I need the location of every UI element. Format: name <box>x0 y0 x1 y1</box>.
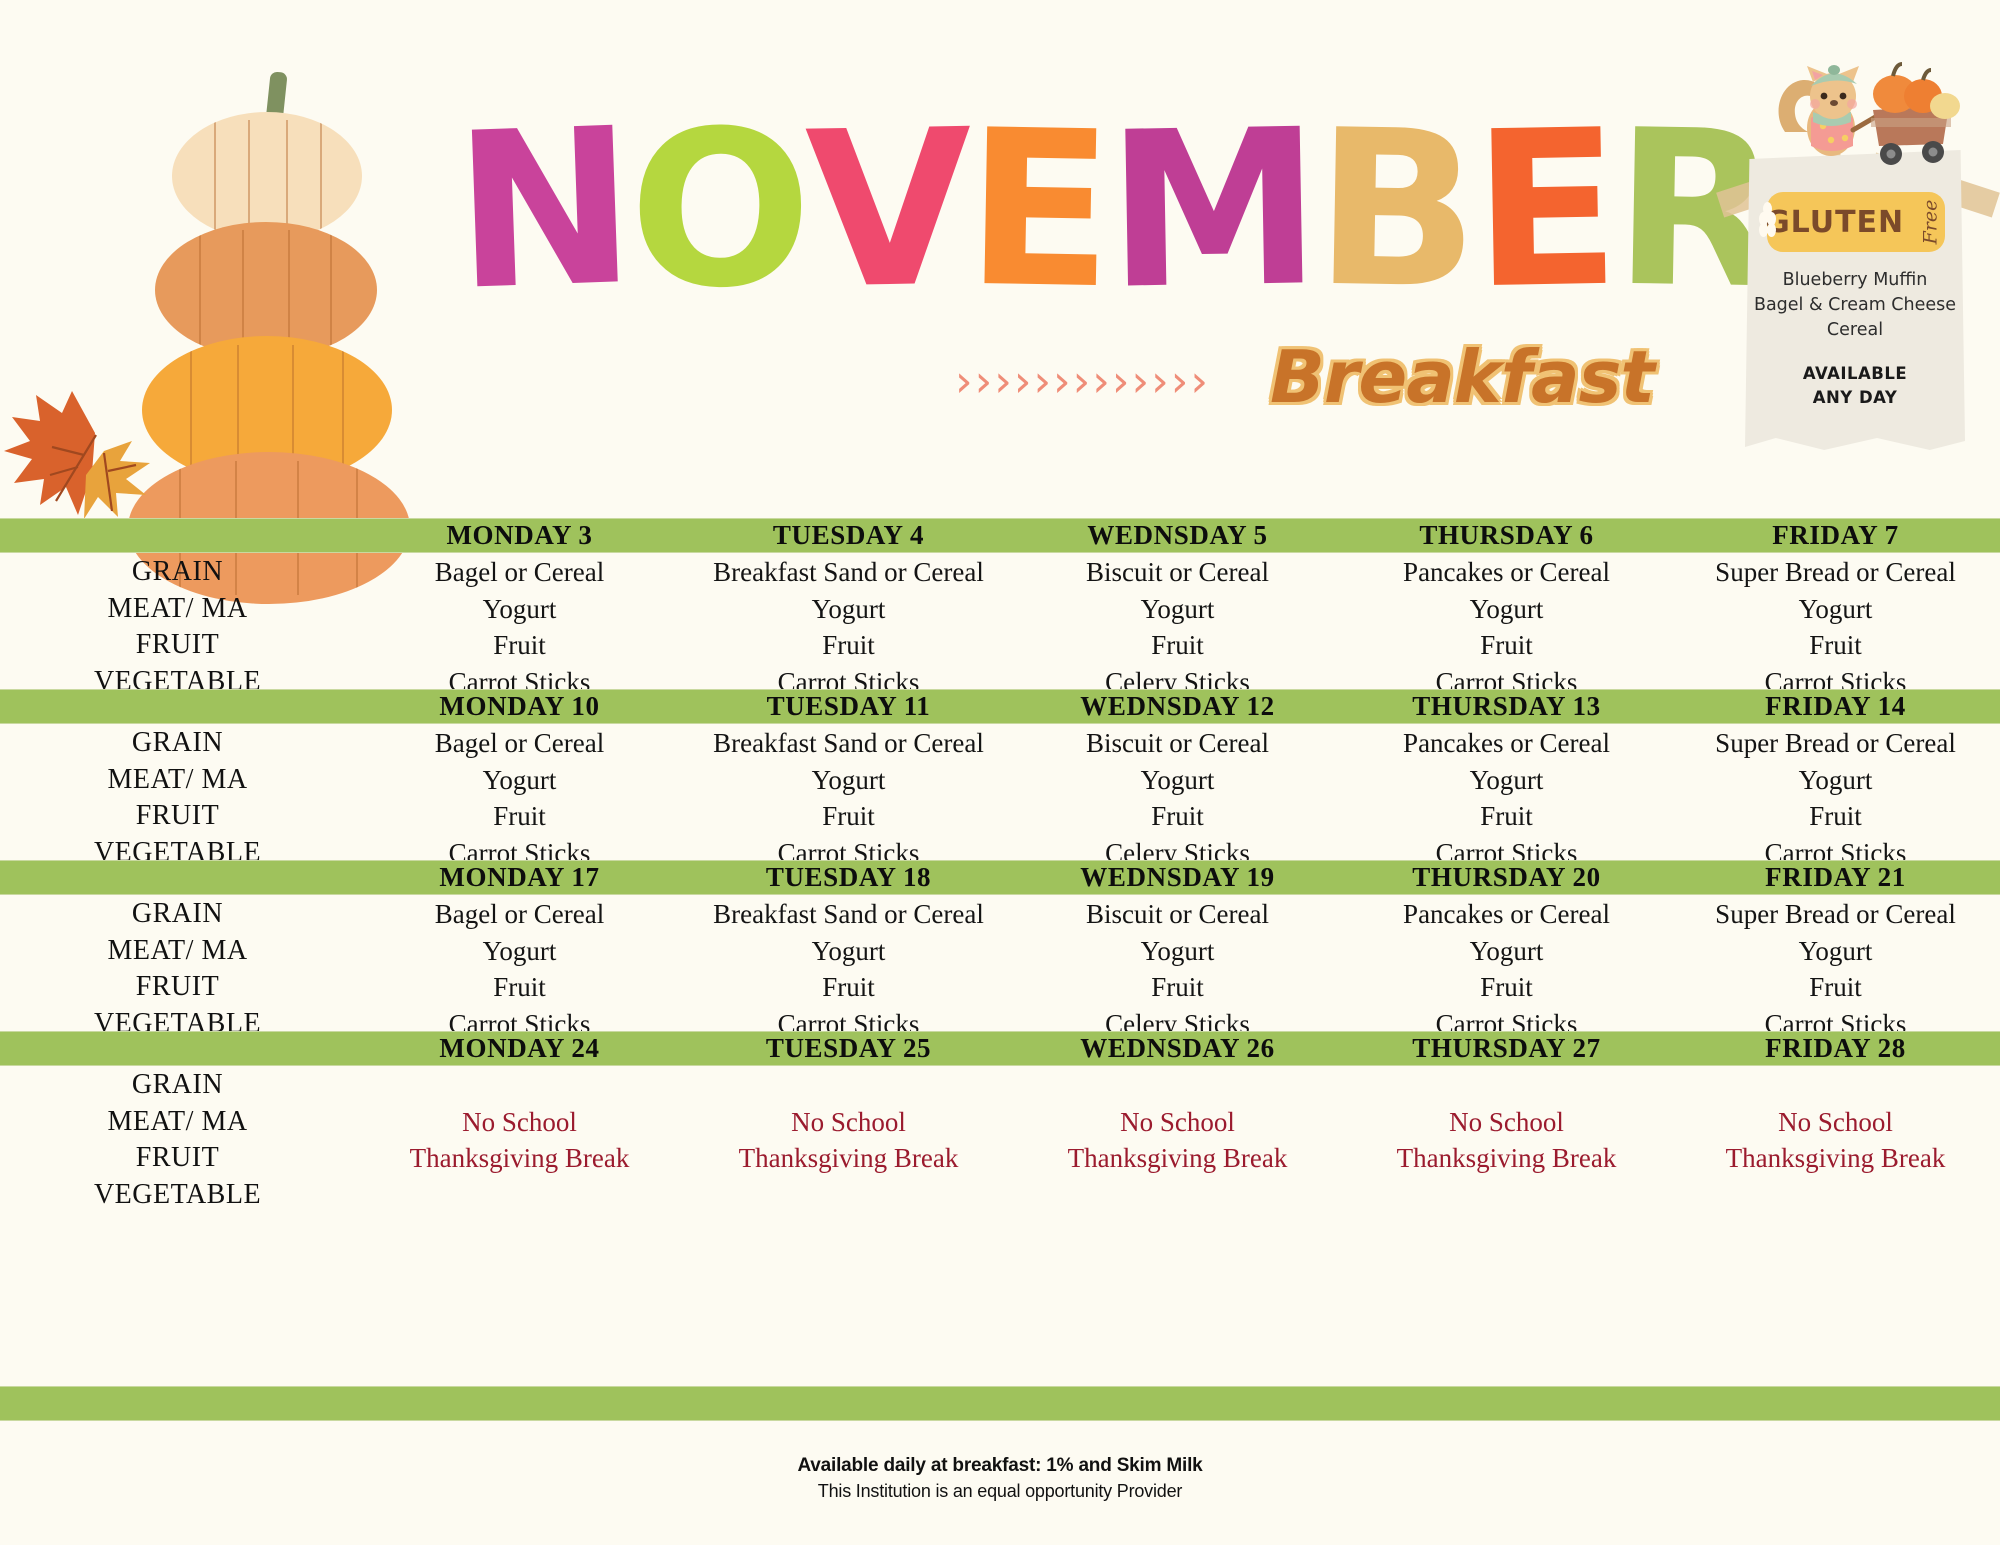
menu-cell: Super Bread or Cereal <box>1671 725 2000 762</box>
chevron-icon: › <box>1092 360 1110 404</box>
menu-cell <box>355 1177 684 1214</box>
menu-cell: Fruit <box>1013 798 1342 835</box>
day-column-4: Pancakes or CerealYogurtFruitCarrot Stic… <box>1342 725 1671 871</box>
title-letter: M <box>1105 108 1316 312</box>
day-header-label: WEDNSDAY 26 <box>1013 1031 1342 1066</box>
week-menu-columns: Bagel or CerealYogurtFruitCarrot SticksB… <box>355 554 2000 700</box>
row-label-column: GRAINMEAT/ MAFRUITVEGETABLE <box>0 554 355 700</box>
day-header-4[interactable]: THURSDAY 13 <box>1342 689 1671 724</box>
row-label-grain: GRAIN <box>0 554 355 591</box>
day-header-label: FRIDAY 14 <box>1671 689 2000 724</box>
bottom-divider-bar <box>0 1386 2000 1421</box>
gluten-free-item: Bagel & Cream Cheese <box>1753 293 1957 318</box>
menu-cell: Yogurt <box>684 591 1013 628</box>
title-letter: B <box>1313 109 1474 312</box>
menu-cell: Bagel or Cereal <box>355 725 684 762</box>
chevron-icon: › <box>1131 360 1149 404</box>
menu-cell: Bagel or Cereal <box>355 896 684 933</box>
day-header-label: WEDNSDAY 19 <box>1013 860 1342 895</box>
row-label-meat-ma: MEAT/ MA <box>0 762 355 799</box>
menu-cell: Fruit <box>1342 969 1671 1006</box>
menu-cell: Biscuit or Cereal <box>1013 896 1342 933</box>
day-column-3: No SchoolThanksgiving Break <box>1013 1067 1342 1213</box>
chevron-icon: › <box>1033 360 1051 404</box>
menu-cell: Fruit <box>355 969 684 1006</box>
day-header-label: THURSDAY 27 <box>1342 1031 1671 1066</box>
menu-cell: Thanksgiving Break <box>1671 1140 2000 1177</box>
day-column-5: Super Bread or CerealYogurtFruitCarrot S… <box>1671 554 2000 700</box>
chevron-icon: › <box>1112 360 1130 404</box>
day-header-1[interactable]: MONDAY 17 <box>355 860 684 895</box>
day-header-2[interactable]: TUESDAY 11 <box>684 689 1013 724</box>
menu-cell: Fruit <box>1013 627 1342 664</box>
menu-cell: Pancakes or Cereal <box>1342 554 1671 591</box>
menu-cell: Yogurt <box>355 762 684 799</box>
menu-cell <box>684 1177 1013 1214</box>
menu-cell: No School <box>355 1104 684 1141</box>
menu-cell: Biscuit or Cereal <box>1013 725 1342 762</box>
day-header-5[interactable]: FRIDAY 21 <box>1671 860 2000 895</box>
day-header-5[interactable]: FRIDAY 28 <box>1671 1031 2000 1066</box>
menu-cell <box>1671 1177 2000 1214</box>
day-header-3[interactable]: WEDNSDAY 12 <box>1013 689 1342 724</box>
menu-cell <box>1671 1067 2000 1104</box>
day-header-label: TUESDAY 25 <box>684 1031 1013 1066</box>
title-letter: O <box>627 109 807 312</box>
menu-cell: No School <box>684 1104 1013 1141</box>
gluten-free-item: Cereal <box>1753 318 1957 343</box>
menu-cell: Super Bread or Cereal <box>1671 554 2000 591</box>
day-header-label: FRIDAY 21 <box>1671 860 2000 895</box>
footer-eo-statement: This Institution is an equal opportunity… <box>0 1481 2000 1502</box>
row-label-grain: GRAIN <box>0 725 355 762</box>
footer-milk-note: Available daily at breakfast: 1% and Ski… <box>0 1455 2000 1477</box>
day-column-2: Breakfast Sand or CerealYogurtFruitCarro… <box>684 554 1013 700</box>
menu-cell: Thanksgiving Break <box>355 1140 684 1177</box>
day-column-1: Bagel or CerealYogurtFruitCarrot Sticks <box>355 725 684 871</box>
title-letter: N <box>452 107 633 313</box>
availability-line-2: ANY DAY <box>1753 386 1957 410</box>
menu-cell: Yogurt <box>1342 591 1671 628</box>
day-column-3: Biscuit or CerealYogurtFruitCelery Stick… <box>1013 896 1342 1042</box>
menu-cell: Yogurt <box>1342 762 1671 799</box>
day-header-5[interactable]: FRIDAY 14 <box>1671 689 2000 724</box>
day-column-2: Breakfast Sand or CerealYogurtFruitCarro… <box>684 896 1013 1042</box>
menu-cell <box>1342 1177 1671 1214</box>
menu-cell: Breakfast Sand or Cereal <box>684 725 1013 762</box>
chevron-icon: › <box>1190 360 1208 404</box>
day-column-1: No SchoolThanksgiving Break <box>355 1067 684 1213</box>
menu-cell: Fruit <box>1671 798 2000 835</box>
row-label-column: GRAINMEAT/ MAFRUITVEGETABLE <box>0 1067 355 1213</box>
row-label-fruit: FRUIT <box>0 798 355 835</box>
title-letter: V <box>804 109 968 312</box>
day-header-label: WEDNSDAY 12 <box>1013 689 1342 724</box>
gluten-free-badge-main: GLUTEN <box>1765 205 1904 240</box>
row-label-meat-ma: MEAT/ MA <box>0 1104 355 1141</box>
day-column-4: Pancakes or CerealYogurtFruitCarrot Stic… <box>1342 554 1671 700</box>
day-header-2[interactable]: TUESDAY 25 <box>684 1031 1013 1066</box>
autumn-leaves-icon <box>0 355 200 515</box>
menu-cell: Pancakes or Cereal <box>1342 725 1671 762</box>
day-header-5[interactable]: FRIDAY 7 <box>1671 518 2000 553</box>
day-header-2[interactable]: TUESDAY 4 <box>684 518 1013 553</box>
week-day-headers: MONDAY 10TUESDAY 11WEDNSDAY 12THURSDAY 1… <box>0 689 2000 724</box>
chevron-icon: › <box>1171 360 1189 404</box>
menu-cell: Fruit <box>355 798 684 835</box>
row-label-fruit: FRUIT <box>0 627 355 664</box>
menu-cell: Fruit <box>1671 969 2000 1006</box>
availability-line-1: AVAILABLE <box>1753 362 1957 386</box>
menu-cell: Yogurt <box>1671 591 2000 628</box>
chevron-icon: › <box>1053 360 1071 404</box>
day-header-label: TUESDAY 11 <box>684 689 1013 724</box>
menu-cell: Yogurt <box>1013 591 1342 628</box>
gluten-free-item-list: Blueberry Muffin Bagel & Cream Cheese Ce… <box>1753 268 1957 343</box>
row-label-vegetable: VEGETABLE <box>0 1177 355 1214</box>
day-header-label: THURSDAY 20 <box>1342 860 1671 895</box>
week-day-headers: MONDAY 17TUESDAY 18WEDNSDAY 19THURSDAY 2… <box>0 860 2000 895</box>
page-footer: Available daily at breakfast: 1% and Ski… <box>0 1455 2000 1502</box>
day-column-5: No SchoolThanksgiving Break <box>1671 1067 2000 1213</box>
week-day-headers: MONDAY 24TUESDAY 25WEDNSDAY 26THURSDAY 2… <box>0 1031 2000 1066</box>
gluten-free-badge-sub: Free <box>1920 200 1942 245</box>
day-header-label: TUESDAY 4 <box>684 518 1013 553</box>
page-header: N O V E M B E R ››››››››››››› Breakfast <box>0 0 2000 520</box>
day-header-label: MONDAY 10 <box>355 689 684 724</box>
day-column-3: Biscuit or CerealYogurtFruitCelery Stick… <box>1013 554 1342 700</box>
day-column-5: Super Bread or CerealYogurtFruitCarrot S… <box>1671 725 2000 871</box>
row-label-fruit: FRUIT <box>0 1140 355 1177</box>
menu-cell: No School <box>1013 1104 1342 1141</box>
day-header-label: THURSDAY 6 <box>1342 518 1671 553</box>
menu-cell: Super Bread or Cereal <box>1671 896 2000 933</box>
week-menu-columns: Bagel or CerealYogurtFruitCarrot SticksB… <box>355 896 2000 1042</box>
menu-cell: Yogurt <box>1671 762 2000 799</box>
menu-cell: Breakfast Sand or Cereal <box>684 896 1013 933</box>
day-header-3[interactable]: WEDNSDAY 5 <box>1013 518 1342 553</box>
day-header-label: WEDNSDAY 5 <box>1013 518 1342 553</box>
day-header-1[interactable]: MONDAY 24 <box>355 1031 684 1066</box>
week-menu-columns: No SchoolThanksgiving Break No SchoolTha… <box>355 1067 2000 1213</box>
menu-page: N O V E M B E R ››››››››››››› Breakfast <box>0 0 2000 1545</box>
row-label-grain: GRAIN <box>0 1067 355 1104</box>
day-header-2[interactable]: TUESDAY 18 <box>684 860 1013 895</box>
row-label-grain: GRAIN <box>0 896 355 933</box>
menu-cell: Bagel or Cereal <box>355 554 684 591</box>
menu-cell: Yogurt <box>1342 933 1671 970</box>
menu-cell: Fruit <box>684 798 1013 835</box>
menu-cell: Thanksgiving Break <box>1342 1140 1671 1177</box>
day-header-label: MONDAY 3 <box>355 518 684 553</box>
menu-cell: Yogurt <box>684 762 1013 799</box>
menu-cell: Yogurt <box>1013 933 1342 970</box>
day-header-4[interactable]: THURSDAY 27 <box>1342 1031 1671 1066</box>
menu-cell: Biscuit or Cereal <box>1013 554 1342 591</box>
day-header-3[interactable]: WEDNSDAY 19 <box>1013 860 1342 895</box>
day-header-4[interactable]: THURSDAY 6 <box>1342 518 1671 553</box>
page-title: N O V E M B E R <box>455 70 1655 310</box>
menu-cell: Fruit <box>1342 627 1671 664</box>
menu-cell: Fruit <box>684 627 1013 664</box>
menu-cell <box>684 1067 1013 1104</box>
menu-cell: No School <box>1671 1104 2000 1141</box>
day-column-1: Bagel or CerealYogurtFruitCarrot Sticks <box>355 896 684 1042</box>
week-menu-columns: Bagel or CerealYogurtFruitCarrot SticksB… <box>355 725 2000 871</box>
chevron-icon: › <box>1073 360 1091 404</box>
row-label-fruit: FRUIT <box>0 969 355 1006</box>
week-day-headers: MONDAY 3TUESDAY 4WEDNSDAY 5THURSDAY 6FRI… <box>0 518 2000 553</box>
day-column-2: Breakfast Sand or CerealYogurtFruitCarro… <box>684 725 1013 871</box>
pumpkin-top <box>172 112 362 240</box>
day-header-label: TUESDAY 18 <box>684 860 1013 895</box>
day-header-label: FRIDAY 28 <box>1671 1031 2000 1066</box>
day-header-label: MONDAY 17 <box>355 860 684 895</box>
row-label-meat-ma: MEAT/ MA <box>0 933 355 970</box>
menu-cell <box>1013 1177 1342 1214</box>
menu-cell: Fruit <box>355 627 684 664</box>
menu-cell: Yogurt <box>355 933 684 970</box>
day-column-2: No SchoolThanksgiving Break <box>684 1067 1013 1213</box>
menu-cell: Fruit <box>1342 798 1671 835</box>
day-header-4[interactable]: THURSDAY 20 <box>1342 860 1671 895</box>
menu-cell <box>1342 1067 1671 1104</box>
day-header-3[interactable]: WEDNSDAY 26 <box>1013 1031 1342 1066</box>
chevron-arrows-icon: ››››››››››››› <box>955 360 1208 404</box>
title-letter: E <box>964 109 1108 311</box>
chevron-icon: › <box>955 360 973 404</box>
day-column-1: Bagel or CerealYogurtFruitCarrot Sticks <box>355 554 684 700</box>
row-label-column: GRAINMEAT/ MAFRUITVEGETABLE <box>0 725 355 871</box>
day-header-label: FRIDAY 7 <box>1671 518 2000 553</box>
day-column-5: Super Bread or CerealYogurtFruitCarrot S… <box>1671 896 2000 1042</box>
menu-cell: Pancakes or Cereal <box>1342 896 1671 933</box>
title-letter: E <box>1471 109 1615 311</box>
menu-cell: No School <box>1342 1104 1671 1141</box>
meal-type-label: Breakfast <box>1270 335 1654 419</box>
chevron-icon: › <box>1014 360 1032 404</box>
day-header-label: THURSDAY 13 <box>1342 689 1671 724</box>
day-column-4: No SchoolThanksgiving Break <box>1342 1067 1671 1213</box>
row-label-meat-ma: MEAT/ MA <box>0 591 355 628</box>
gluten-free-item: Blueberry Muffin <box>1753 268 1957 293</box>
chevron-icon: › <box>975 360 993 404</box>
menu-cell: Breakfast Sand or Cereal <box>684 554 1013 591</box>
gluten-free-badge: GLUTEN Free <box>1767 192 1945 252</box>
menu-cell: Yogurt <box>355 591 684 628</box>
menu-cell: Thanksgiving Break <box>1013 1140 1342 1177</box>
menu-cell: Yogurt <box>684 933 1013 970</box>
menu-cell: Yogurt <box>1013 762 1342 799</box>
chevron-icon: › <box>1151 360 1169 404</box>
menu-cell: Fruit <box>1671 627 2000 664</box>
squirrel-wagon-icon <box>1773 60 1963 170</box>
menu-cell: Fruit <box>1013 969 1342 1006</box>
day-column-4: Pancakes or CerealYogurtFruitCarrot Stic… <box>1342 896 1671 1042</box>
day-column-3: Biscuit or CerealYogurtFruitCelery Stick… <box>1013 725 1342 871</box>
row-label-column: GRAINMEAT/ MAFRUITVEGETABLE <box>0 896 355 1042</box>
gluten-free-availability: AVAILABLE ANY DAY <box>1753 362 1957 410</box>
menu-cell: Thanksgiving Break <box>684 1140 1013 1177</box>
day-header-label: MONDAY 24 <box>355 1031 684 1066</box>
gluten-free-card: GLUTEN Free Blueberry Muffin Bagel & Cre… <box>1745 150 1965 450</box>
menu-cell: Yogurt <box>1671 933 2000 970</box>
menu-cell <box>355 1067 684 1104</box>
day-header-1[interactable]: MONDAY 3 <box>355 518 684 553</box>
menu-cell: Fruit <box>684 969 1013 1006</box>
day-header-1[interactable]: MONDAY 10 <box>355 689 684 724</box>
chevron-icon: › <box>994 360 1012 404</box>
menu-cell <box>1013 1067 1342 1104</box>
